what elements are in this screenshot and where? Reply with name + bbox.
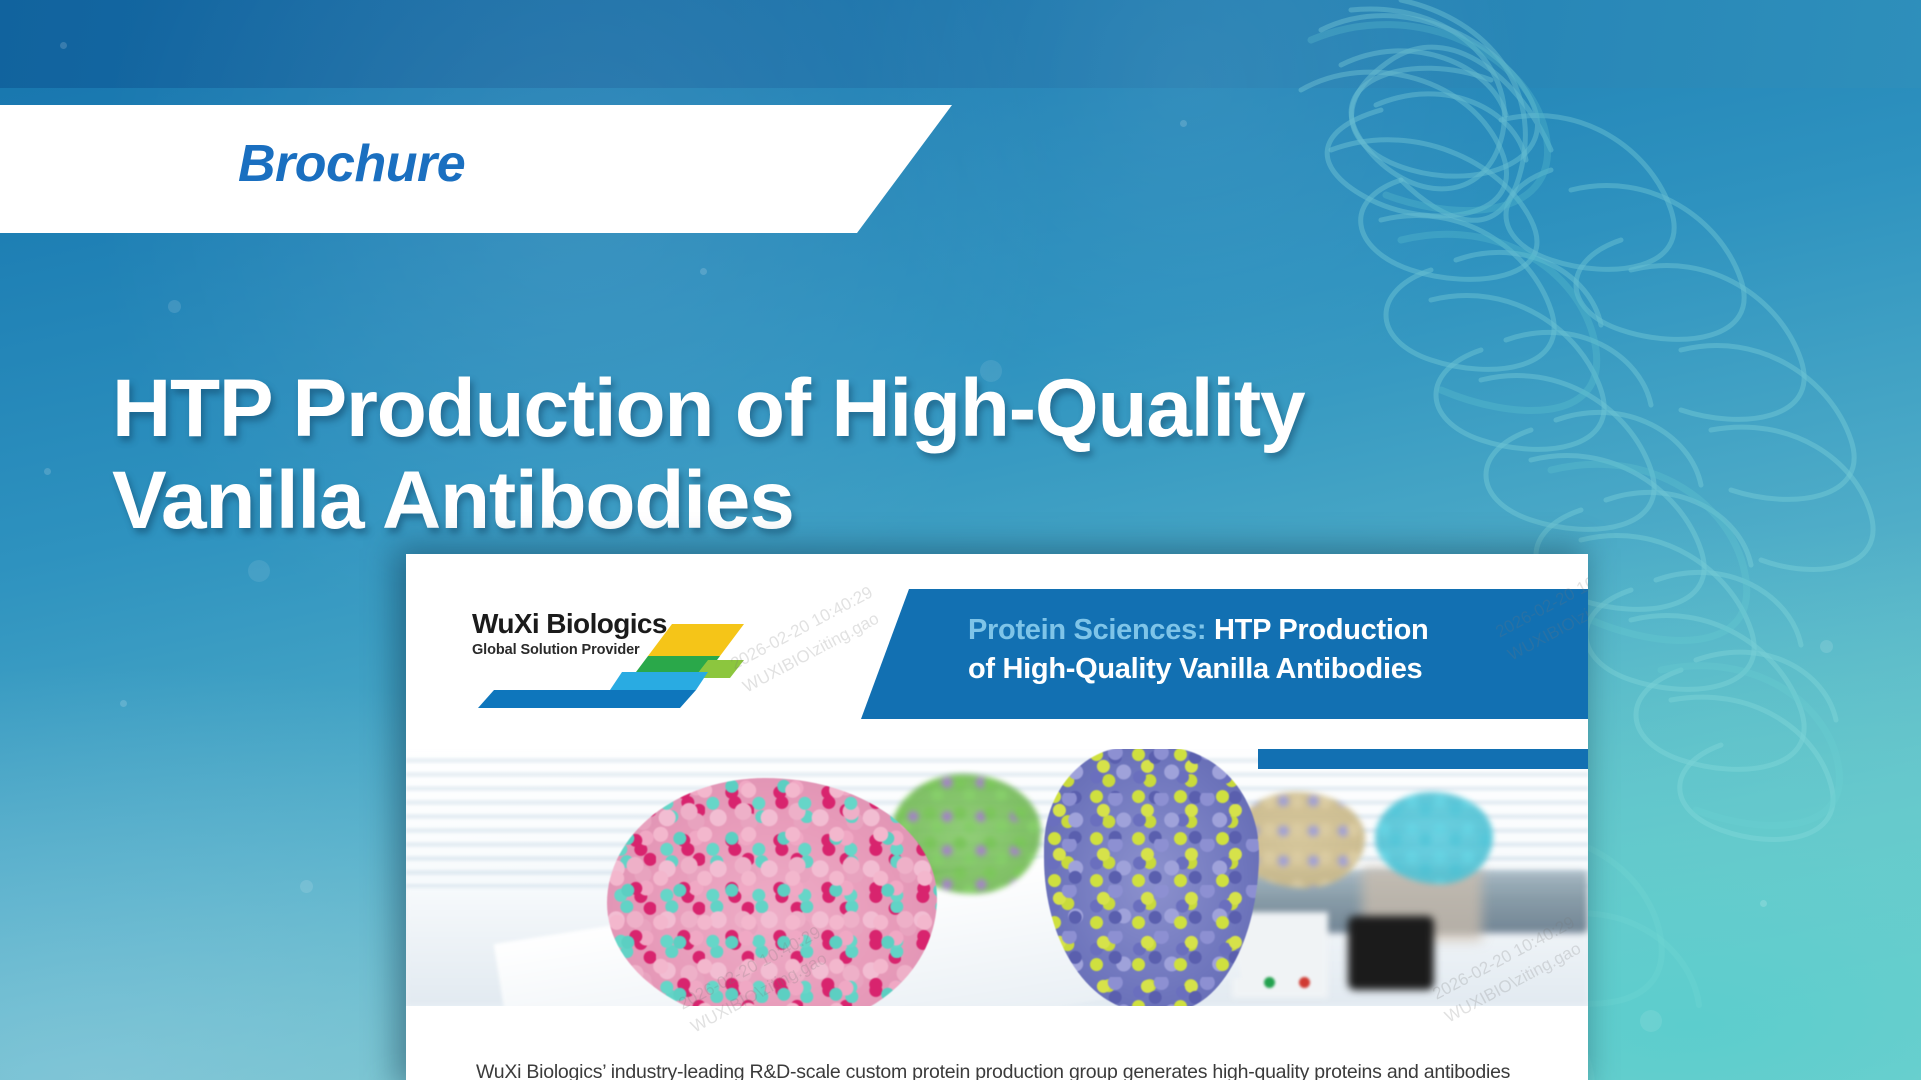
background-fleck xyxy=(60,42,67,49)
background-fleck xyxy=(248,560,270,582)
molecule-model-cyan xyxy=(1375,792,1493,884)
background-fleck xyxy=(700,268,707,275)
wuxi-biologics-logo: WuXi Biologics Global Solution Provider xyxy=(472,610,744,702)
brochure-hero-page: Brochure HTP Production of High-Quality … xyxy=(0,0,1921,1080)
photo-blue-accent-bar xyxy=(1258,749,1588,769)
banner-title-part-1: HTP Production xyxy=(1206,614,1428,646)
brochure-title-banner: Protein Sciences: HTP Production of High… xyxy=(861,589,1588,719)
banner-accent-text: Protein Sciences: xyxy=(968,614,1206,646)
brochure-body-text: WuXi Biologics’ industry-leading R&D-sca… xyxy=(476,1054,1518,1080)
background-fleck xyxy=(1820,640,1833,653)
brochure-hero-photo xyxy=(406,749,1588,1006)
background-fleck xyxy=(300,880,313,893)
page-title-line-1: HTP Production of High-Quality xyxy=(112,363,1412,455)
page-title: HTP Production of High-Quality Vanilla A… xyxy=(112,363,1412,547)
background-fleck xyxy=(1760,900,1767,907)
molecule-model-blue xyxy=(1044,749,1259,1006)
background-fleck xyxy=(44,468,51,475)
logo-company-name: WuXi Biologics xyxy=(472,610,744,638)
background-fleck xyxy=(168,300,181,313)
lab-dark-instrument xyxy=(1348,916,1434,990)
background-top-band xyxy=(0,0,1921,88)
brochure-banner-text: Protein Sciences: HTP Production of High… xyxy=(968,611,1568,689)
lab-led-green-icon xyxy=(1264,977,1275,988)
banner-title-part-2: of High-Quality Vanilla Antibodies xyxy=(968,653,1422,685)
page-title-line-2: Vanilla Antibodies xyxy=(112,455,1412,547)
background-fleck xyxy=(1180,120,1187,127)
brochure-card-header: WuXi Biologics Global Solution Provider … xyxy=(406,554,1588,749)
background-fleck xyxy=(120,700,127,707)
brochure-label-banner xyxy=(0,105,952,233)
background-fleck xyxy=(1640,1010,1662,1032)
brochure-body: WuXi Biologics’ industry-leading R&D-sca… xyxy=(406,1006,1588,1080)
brochure-eyebrow-label: Brochure xyxy=(238,134,465,194)
brochure-preview-card[interactable]: WuXi Biologics Global Solution Provider … xyxy=(406,554,1588,1080)
logo-tagline: Global Solution Provider xyxy=(472,643,744,658)
body-text-regular: WuXi Biologics’ industry-leading R&D-sca… xyxy=(476,1061,1510,1080)
